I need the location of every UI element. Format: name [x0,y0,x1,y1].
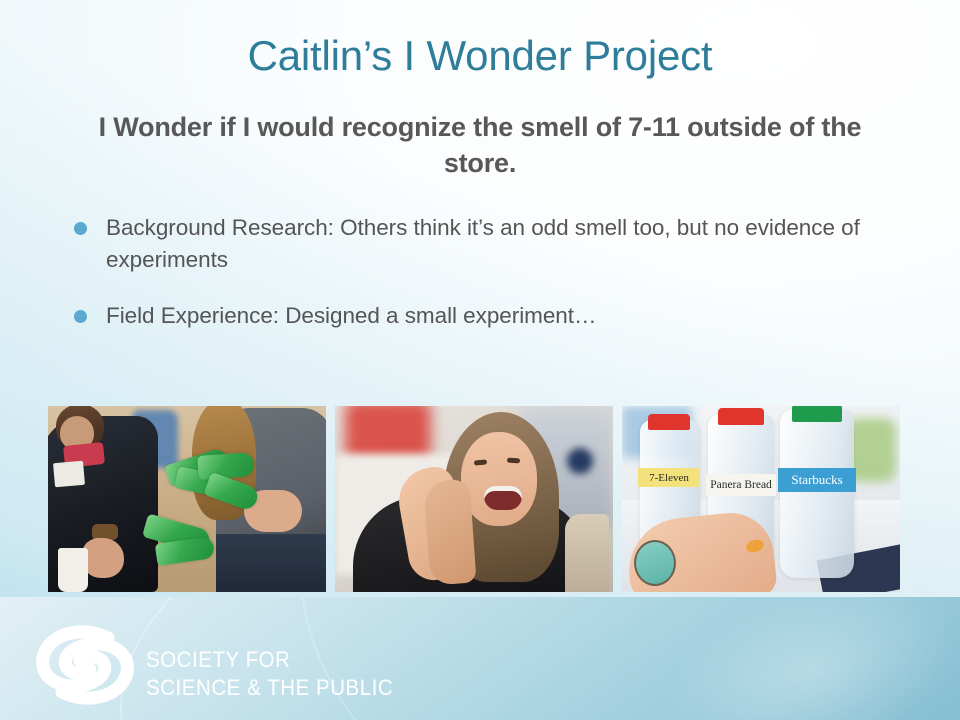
photo2-background-blur [567,448,593,474]
photo3-bottle-cap [792,406,842,422]
photo1-jeans [216,534,326,592]
slide-subtitle: I Wonder if I would recognize the smell … [96,110,864,181]
photo-laughing-woman [335,406,613,592]
photo2-face [461,432,537,526]
bullet-dot-icon [74,222,87,235]
photo2-mouth [484,486,522,510]
bullet-dot-icon [74,310,87,323]
list-item: Field Experience: Designed a small exper… [60,300,912,332]
footer-band [0,597,960,720]
list-item-label: Field Experience: Designed a small exper… [106,303,596,328]
photo3-bracelet [634,540,676,586]
page-title: Caitlin’s I Wonder Project [0,32,960,79]
photo2-hand-back [423,479,476,586]
photo-bottle-handling [48,406,326,592]
photo3-bottle [780,410,854,578]
photo1-green-bottle [197,452,255,480]
society-for-science-swirl-logo-icon [34,622,136,708]
slide: Caitlin’s I Wonder Project I Wonder if I… [0,0,960,720]
list-item-label: Background Research: Others think it’s a… [106,215,860,272]
photo2-chair [565,514,609,592]
photo3-bottle-label: 7-Eleven [638,468,700,487]
photo-labeled-bottles: 7-Eleven Panera Bread Starbucks [622,406,900,592]
photo3-bottle-cap [718,408,764,425]
footer-sheen [575,597,960,720]
bullet-list: Background Research: Others think it’s a… [60,212,912,356]
footer-org-name: SOCIETY FOR SCIENCE & THE PUBLIC [146,646,393,702]
photo1-cup [58,548,88,592]
list-item: Background Research: Others think it’s a… [60,212,912,276]
photo3-bottle-cap [648,414,690,430]
photo2-eye [507,458,520,464]
photo1-hand-left [82,538,124,578]
photo1-name-badge [53,461,85,488]
footer-org-line-2: SCIENCE & THE PUBLIC [146,674,393,702]
photo3-bottle-label: Starbucks [778,468,856,492]
photo3-bottle-label: Panera Bread [706,474,776,496]
footer-org-line-1: SOCIETY FOR [146,646,393,674]
photo-strip: 7-Eleven Panera Bread Starbucks [48,406,900,592]
